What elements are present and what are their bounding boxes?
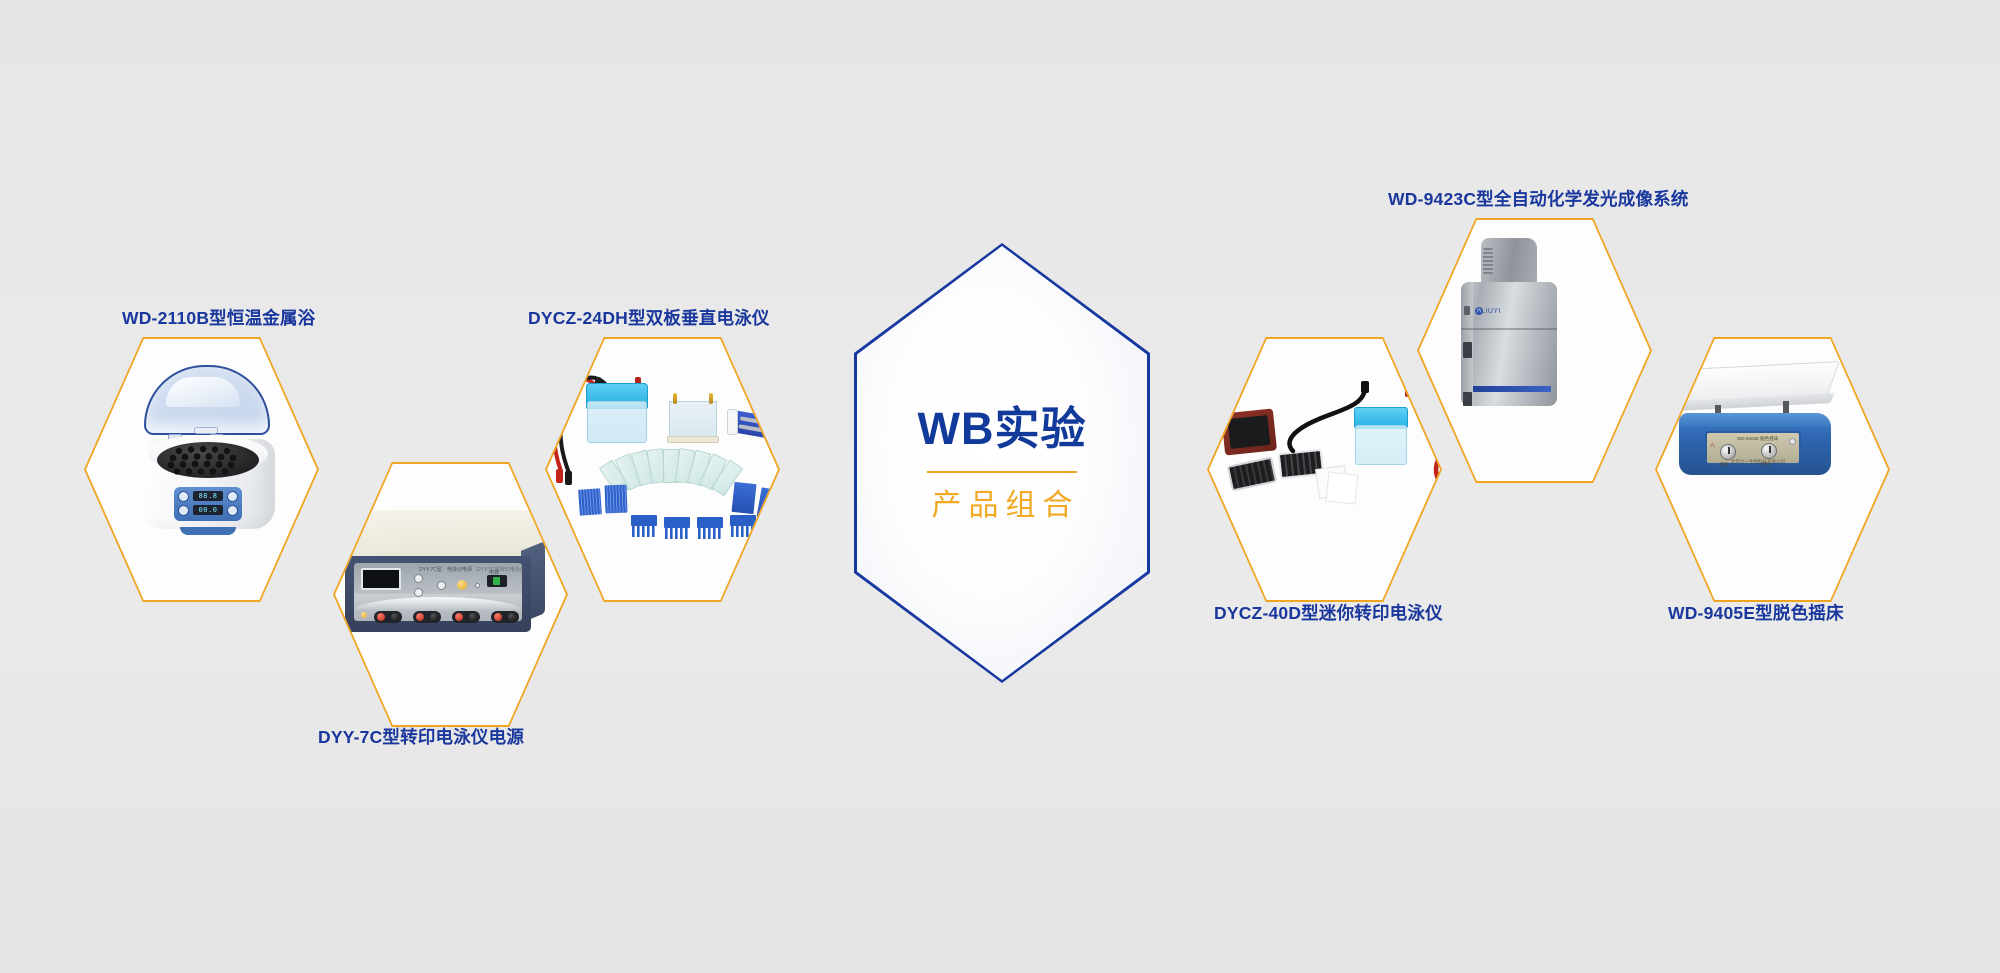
metal-bath-base-trim <box>180 527 236 535</box>
imaging-system-port-middle <box>1463 342 1472 358</box>
power-supply-jack-pair-3[interactable] <box>452 611 480 623</box>
product-hex-decolor-shaker[interactable]: 六 WD-9405E 脱色摇床 北京六一生物科技有限公司 调速 定时 <box>1655 337 1890 602</box>
center-hexagon: WB实验 产品组合 <box>854 243 1150 683</box>
power-supply-photo: DYY-7C型 电泳仪电源 DYY-7C型转印电泳仪电源 电源 <box>335 464 566 725</box>
power-supply-down-knob[interactable] <box>414 588 423 597</box>
center-divider <box>927 471 1077 473</box>
metal-bath-photo: 88.8 00.0 <box>86 339 317 600</box>
decolor-shaker-timer-knob[interactable] <box>1761 443 1777 459</box>
power-supply-panel-sub: DYY-7C型转印电泳仪电源 <box>477 566 535 573</box>
imaging-system-hood-vent <box>1483 248 1493 274</box>
gel-spacer <box>578 488 602 515</box>
decolor-shaker-power-led <box>1789 438 1796 445</box>
product-hex-metal-bath[interactable]: 88.8 00.0 <box>84 337 319 602</box>
decolor-shaker-timer-label: 定时 <box>1761 462 1770 468</box>
power-supply-panel-model: DYY-7C型 <box>419 566 442 573</box>
power-supply-jack-pair-1[interactable] <box>374 611 402 623</box>
power-supply-reset-button[interactable] <box>475 583 480 588</box>
gel-combs <box>629 515 759 549</box>
imaging-system-door-seam <box>1461 328 1557 330</box>
metal-bath-lid-tab <box>194 427 218 434</box>
vertical-electrophoresis-cassette-base <box>667 436 719 443</box>
label-decolor-shaker: WD-9405E型脱色摇床 <box>1668 600 1844 625</box>
gel-spacer <box>731 482 756 514</box>
gel-spacer <box>605 485 628 514</box>
decolor-shaker-panel-model: WD-9405E 脱色摇床 <box>1737 436 1778 442</box>
power-supply-lcd <box>361 568 401 590</box>
power-supply-panel-name: 电泳仪电源 <box>447 566 472 573</box>
vertical-electrophoresis-clamp-end-left <box>727 409 738 435</box>
vertical-electrophoresis-photo <box>547 339 778 600</box>
power-supply-jack-pair-4[interactable] <box>491 611 519 623</box>
power-supply-up-knob[interactable] <box>414 574 423 583</box>
decolor-shaker-base-top <box>1679 413 1831 427</box>
center-subtitle: 产品组合 <box>925 491 1080 521</box>
poster-canvas: 88.8 00.0 WD-2110B型恒温金属浴 DYY-7C型 电泳仪电源 D… <box>0 0 2000 973</box>
imaging-system-port-top <box>1464 306 1470 315</box>
decolor-shaker-speed-label: 调速 <box>1719 462 1728 468</box>
vertical-electrophoresis-screw-left <box>673 393 677 404</box>
metal-bath-tube-holes <box>157 442 259 478</box>
metal-bath-lid-highlight <box>166 377 240 407</box>
mini-transfer-cassette-slot <box>1228 415 1271 449</box>
label-mini-transfer: DYCZ-40D型迷你转印电泳仪 <box>1214 600 1443 625</box>
decolor-shaker-photo: 六 WD-9405E 脱色摇床 北京六一生物科技有限公司 调速 定时 <box>1657 339 1888 600</box>
power-supply-switch-led <box>493 577 500 585</box>
vertical-electrophoresis-tank <box>587 401 647 443</box>
power-supply-switch-label: 电源 <box>489 569 499 576</box>
center-title: WB实验 <box>918 406 1087 451</box>
metal-bath-display-time: 00.0 <box>193 505 223 515</box>
vertical-electrophoresis-cassette <box>669 401 717 439</box>
metal-bath-control-panel[interactable]: 88.8 00.0 <box>174 487 242 521</box>
imaging-system-accent-stripe <box>1473 386 1551 392</box>
power-supply-jack-pair-2[interactable] <box>413 611 441 623</box>
label-imaging-system: WD-9423C型全自动化学发光成像系统 <box>1388 186 1689 211</box>
power-supply-mode-knob[interactable] <box>437 581 446 590</box>
imaging-system-port-bottom <box>1463 392 1472 406</box>
label-vertical-electrophoresis: DYCZ-24DH型双板垂直电泳仪 <box>528 305 770 330</box>
product-hex-power-supply[interactable]: DYY-7C型 电泳仪电源 DYY-7C型转印电泳仪电源 电源 <box>333 462 568 727</box>
product-hex-imaging-system[interactable]: 六 LIUYI <box>1417 218 1652 483</box>
mini-transfer-membrane-sheet <box>1326 472 1359 505</box>
gel-spacer <box>757 487 778 520</box>
power-supply-indicator-lamp <box>457 580 467 590</box>
metal-bath-display-temp: 88.8 <box>193 491 223 501</box>
mini-transfer-tank <box>1355 425 1407 465</box>
decolor-shaker-panel-sub: 北京六一生物科技有限公司 <box>1731 459 1785 465</box>
decolor-shaker-speed-knob[interactable] <box>1720 444 1736 460</box>
vertical-electrophoresis-screw-right <box>709 393 713 404</box>
power-supply-ground-terminal <box>361 612 367 618</box>
decolor-shaker-control-panel[interactable]: 六 WD-9405E 脱色摇床 北京六一生物科技有限公司 调速 定时 <box>1705 431 1801 465</box>
label-metal-bath: WD-2110B型恒温金属浴 <box>122 305 315 330</box>
imaging-system-brand-text: LIUYI <box>1481 308 1501 315</box>
decolor-shaker-brand-mark: 六 <box>1710 442 1715 449</box>
product-hex-vertical-electrophoresis[interactable] <box>545 337 780 602</box>
mini-transfer-photo <box>1209 339 1440 600</box>
label-power-supply: DYY-7C型转印电泳仪电源 <box>318 724 524 749</box>
imaging-system-photo: 六 LIUYI <box>1419 220 1650 481</box>
product-hex-mini-transfer[interactable] <box>1207 337 1442 602</box>
vertical-electrophoresis-clamp <box>732 410 778 441</box>
